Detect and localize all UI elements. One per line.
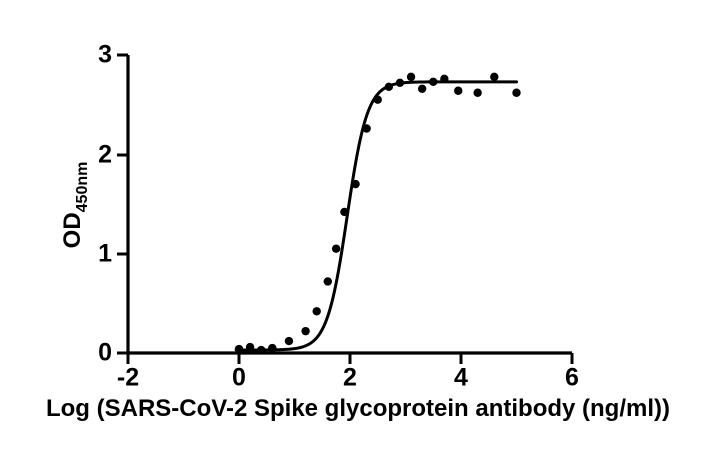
y-tick-label-0: 0	[98, 339, 112, 367]
y-axis-title-subscript: 450nm	[74, 162, 91, 213]
data-point	[246, 343, 254, 351]
data-point	[257, 346, 265, 354]
data-point	[268, 344, 276, 352]
data-point	[362, 124, 370, 132]
data-point	[418, 85, 426, 93]
x-axis-title: Log (SARS-CoV-2 Spike glycoprotein antib…	[46, 395, 670, 422]
elisa-dose-response-chart: 3 2 1 0 -2 0 2 4 6 OD450nm Log (SARS-CoV…	[0, 0, 723, 454]
data-point	[301, 327, 309, 335]
data-point	[490, 73, 498, 81]
x-tick-label-4: 4	[454, 364, 468, 392]
data-point	[235, 345, 243, 353]
data-point	[324, 277, 332, 285]
y-axis-title-main: OD	[59, 212, 86, 248]
y-tick-label-3: 3	[98, 41, 112, 69]
data-point	[429, 78, 437, 86]
data-point	[385, 83, 393, 91]
x-tick-label-6: 6	[565, 364, 579, 392]
data-point	[407, 73, 415, 81]
data-point	[454, 87, 462, 95]
data-point	[473, 89, 481, 97]
data-point	[440, 75, 448, 83]
x-tick-label-neg2: -2	[117, 364, 139, 392]
data-point	[512, 89, 520, 97]
y-tick-label-2: 2	[98, 141, 112, 169]
y-tick-label-1: 1	[98, 240, 112, 268]
data-point	[396, 79, 404, 87]
data-point	[332, 245, 340, 253]
x-tick-label-0: 0	[232, 364, 246, 392]
data-point	[351, 180, 359, 188]
data-point	[313, 307, 321, 315]
data-point	[340, 208, 348, 216]
data-point	[285, 337, 293, 345]
data-point	[374, 96, 382, 104]
x-tick-label-2: 2	[343, 364, 357, 392]
